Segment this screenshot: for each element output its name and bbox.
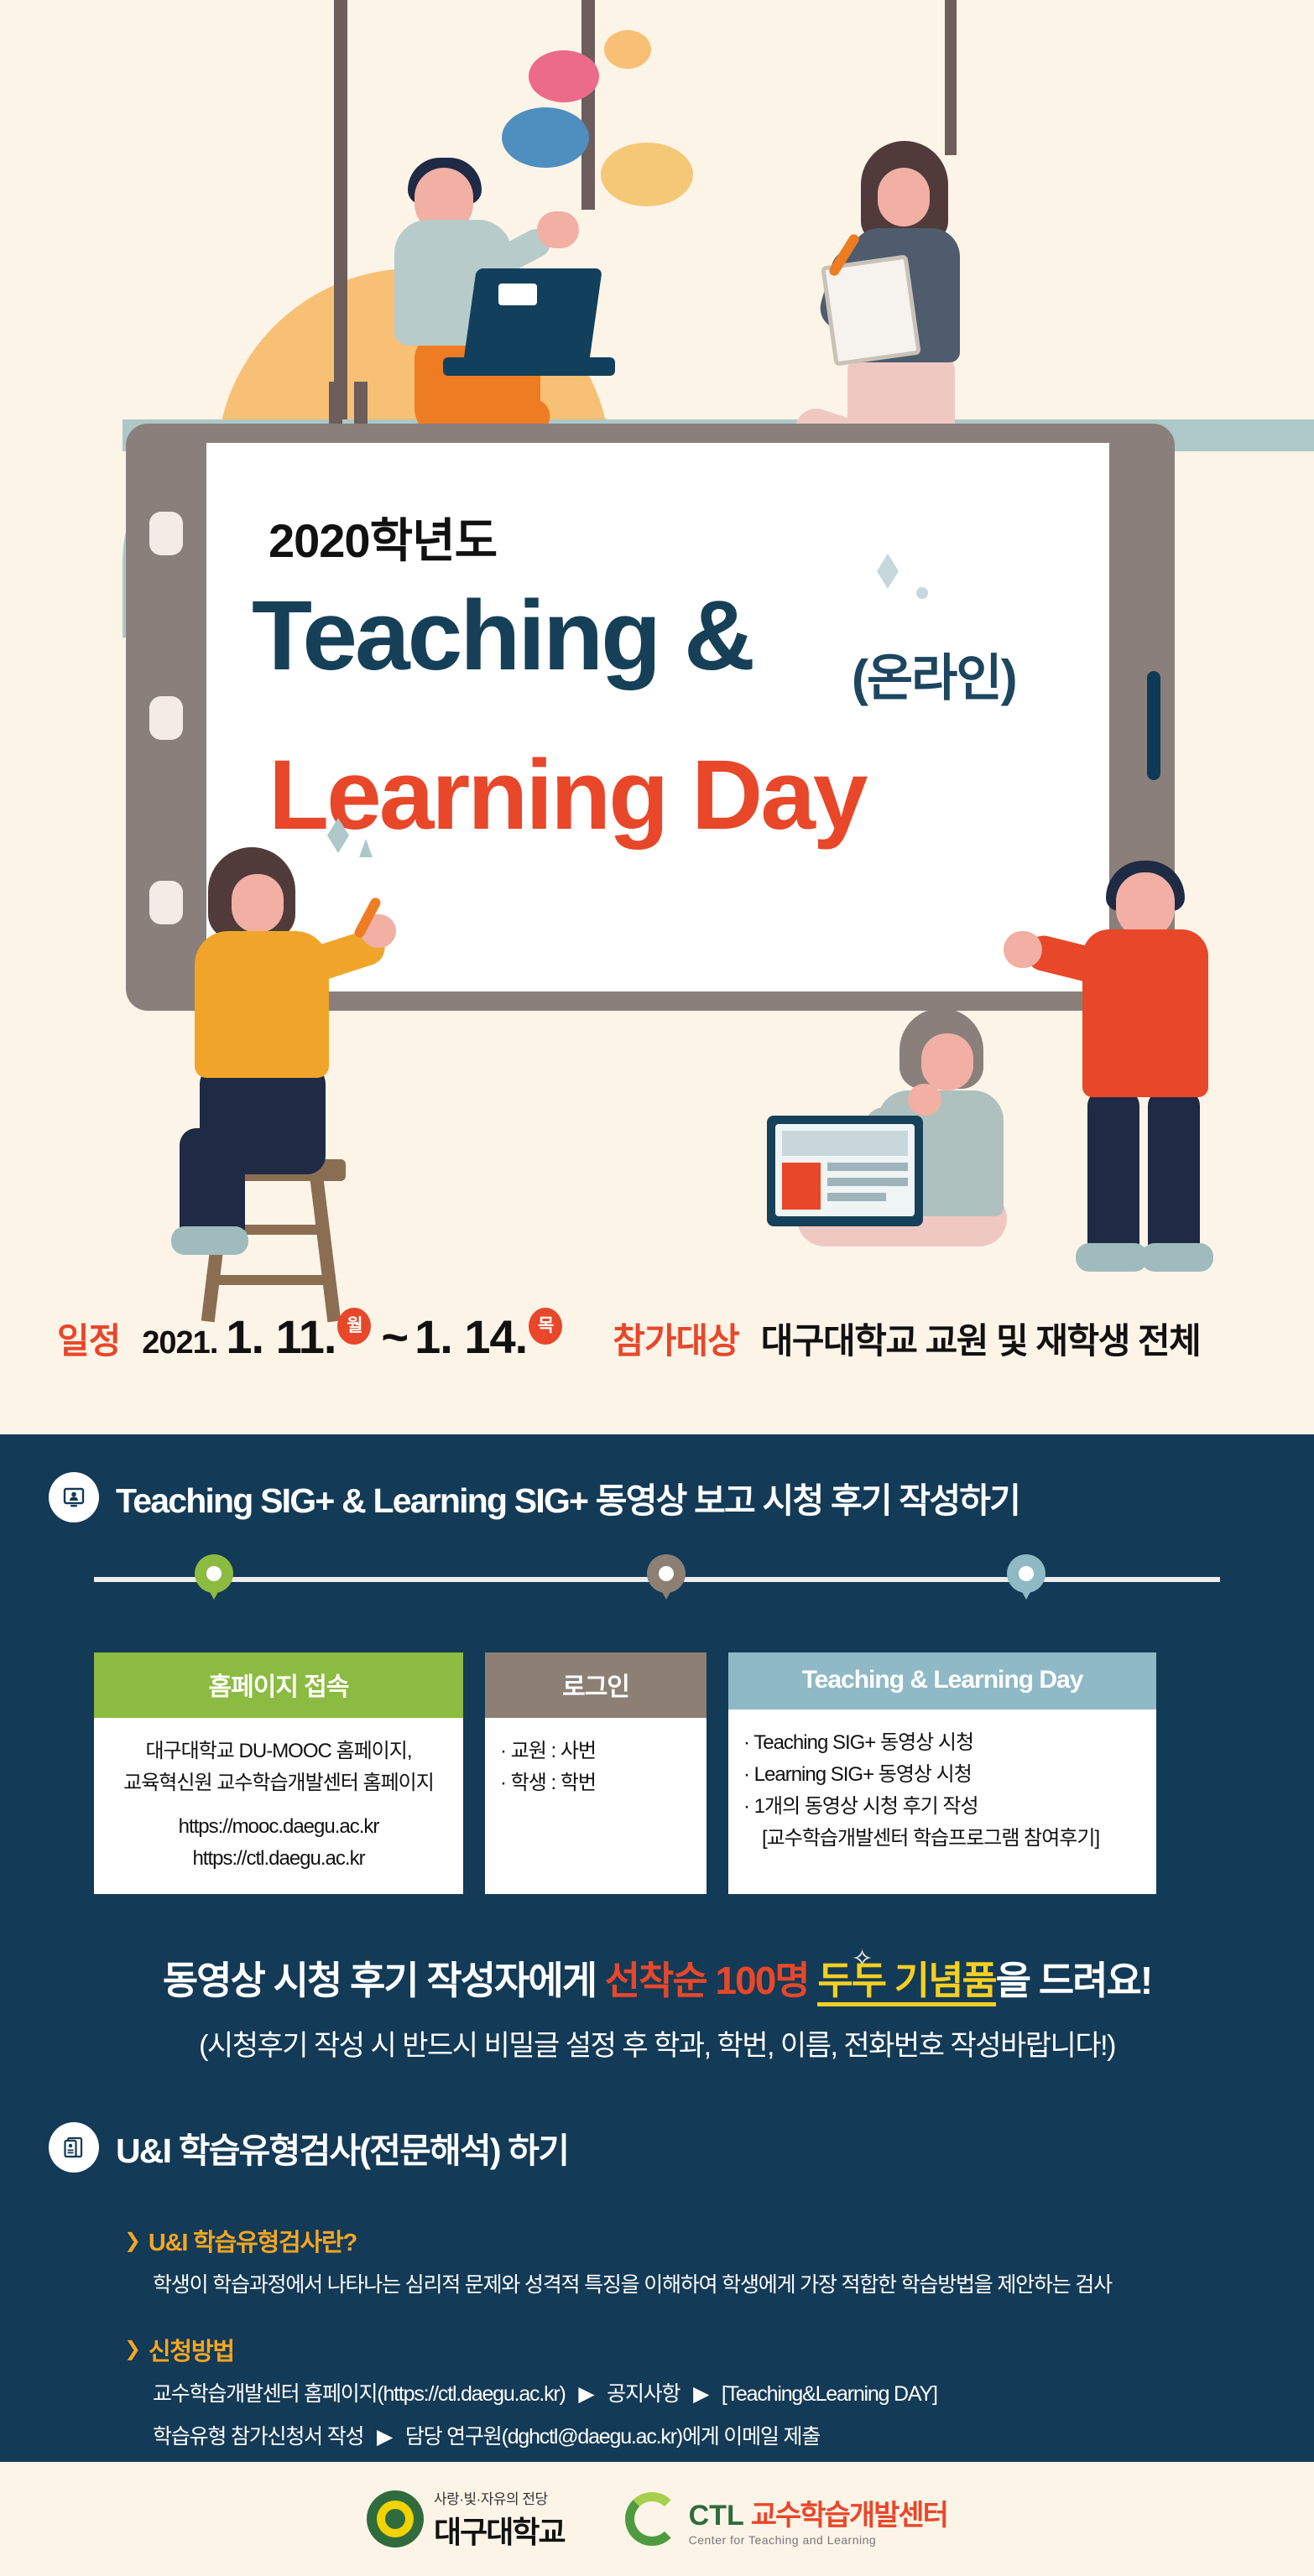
figure-viewer-person-face (921, 1033, 973, 1090)
tablet-content-bar-4 (827, 1193, 886, 1201)
chevron-right-icon-1: ❯ (124, 2229, 140, 2253)
laptop-icon (463, 268, 602, 362)
tablet-content-bar-1 (782, 1131, 908, 1156)
step-card-homepage: 홈페이지 접속 대구대학교 DU-MOOC 홈페이지, 교육혁신원 교수학습개발… (94, 1652, 463, 1894)
poster-root: 2020학년도 Teaching & (온라인) Learning Day (0, 0, 1314, 2576)
section2-title: U&I 학습유형검사(전문해석) 하기 (116, 2122, 568, 2173)
step-card-tlday-header: Teaching & Learning Day (728, 1652, 1156, 1710)
figure-writer-person-face (232, 874, 284, 933)
ctl-english-name: Center for Teaching and Learning (689, 2533, 947, 2547)
figure-writer-person-shoe (171, 1226, 248, 1255)
howto-step-1[interactable]: 교수학습개발센터 홈페이지(https://ctl.daegu.ac.kr) (153, 2382, 566, 2406)
schedule-tilde: ~ (381, 1309, 408, 1364)
speech-bubble-yellow (601, 143, 693, 206)
step-card-homepage-header: 홈페이지 접속 (94, 1652, 463, 1718)
uni-block-what-heading: ❯ U&I 학습유형검사란? (124, 2223, 1282, 2258)
uni-block-howto-heading: ❯ 신청방법 (124, 2332, 1282, 2367)
footer-logos: 사랑·빛·자유의 전당 대구대학교 CTL 교수학습개발센터 Center fo… (0, 2462, 1314, 2576)
howto-step-5[interactable]: 담당 연구원(dghctl@daegu.ac.kr)에게 이메일 제출 (405, 2425, 820, 2449)
audience-label: 참가대상 (613, 1313, 739, 1364)
step-card-homepage-body: 대구대학교 DU-MOOC 홈페이지, 교육혁신원 교수학습개발센터 홈페이지 … (94, 1718, 463, 1894)
schedule-start-day-badge: 월 (337, 1308, 371, 1345)
figure-standing-person-leg (1087, 1090, 1139, 1258)
device-button-1 (149, 512, 183, 555)
section2-header: U&I 학습유형검사(전문해석) 하기 (0, 2122, 568, 2173)
figure-viewer-person-hand (908, 1084, 941, 1116)
homepage-line-2: 교육혁신원 교수학습개발센터 홈페이지 (109, 1768, 448, 1798)
howto-step-3: [Teaching&Learning DAY] (722, 2382, 937, 2406)
figure-standing-person-leg2 (1148, 1090, 1200, 1258)
device-side-button (1147, 671, 1160, 780)
speech-bubble-amber (604, 30, 651, 69)
figure-standing-person-shoe1 (1076, 1243, 1148, 1272)
section1-header: Teaching SIG+ & Learning SIG+ 동영상 보고 시청 … (0, 1472, 1019, 1522)
schedule-start-date: 1. 11. (226, 1309, 336, 1364)
document-card-icon (49, 2122, 99, 2173)
step-card-tlday: Teaching & Learning Day · Teaching SIG+ … (728, 1652, 1156, 1894)
homepage-link-1[interactable]: https://mooc.daegu.ac.kr (109, 1812, 448, 1842)
hanging-strap-2 (581, 0, 595, 210)
university-tagline: 사랑·빛·자유의 전당 (434, 2491, 548, 2507)
academic-year-label: 2020학년도 (269, 503, 497, 571)
device-button-3 (149, 881, 183, 924)
laptop-base (443, 357, 615, 376)
arrow-icon-3: ▶ (377, 2422, 392, 2454)
step-card-login-header: 로그인 (485, 1652, 707, 1718)
arrow-icon-1: ▶ (578, 2379, 593, 2411)
tablet-content-bar-3 (827, 1178, 908, 1186)
university-logo-text: 사랑·빛·자유의 전당 대구대학교 (434, 2487, 565, 2552)
tablet-content-block (782, 1163, 821, 1210)
tlday-line-2: · Learning SIG+ 동영상 시청 (743, 1760, 1141, 1790)
howto-step-4: 학습유형 참가신청서 작성 (153, 2425, 363, 2449)
login-line-2: · 학생 : 학번 (500, 1768, 691, 1798)
timeline-pin-3 (1007, 1554, 1045, 1606)
figure-laptop-person-hand (537, 211, 579, 248)
prize-highlight-yellow: 두두 기념품 (817, 1959, 995, 2006)
poster-title-line2: Learning Day (269, 738, 866, 852)
section1-title: Teaching SIG+ & Learning SIG+ 동영상 보고 시청 … (116, 1472, 1019, 1522)
schedule-value: 2021. 1. 11. 월 ~ 1. 14. 목 (142, 1309, 566, 1366)
step-card-login-body: · 교원 : 사번 · 학생 : 학번 (485, 1718, 707, 1819)
uni-what-label: U&I 학습유형검사란? (149, 2223, 357, 2258)
hanging-strap-3 (945, 0, 957, 155)
hero-illustration-section: 2020학년도 Teaching & (온라인) Learning Day (0, 0, 1314, 1455)
schedule-year: 2021. (142, 1325, 217, 1361)
audience-value: 대구대학교 교원 및 재학생 전체 (761, 1313, 1201, 1364)
steps-card-group: 홈페이지 접속 대구대학교 DU-MOOC 홈페이지, 교육혁신원 교수학습개발… (94, 1652, 1156, 1894)
tlday-line-sub: [교수학습개발센터 학습프로그램 참여후기] (743, 1824, 1141, 1854)
uni-howto-line-2: 학습유형 참가신청서 작성 ▶ 담당 연구원(dghctl@daegu.ac.k… (124, 2422, 1282, 2454)
ctl-logo-text: CTL 교수학습개발센터 Center for Teaching and Lea… (689, 2492, 947, 2547)
daegu-university-logo: 사랑·빛·자유의 전당 대구대학교 (367, 2487, 565, 2552)
poster-title-line1: Teaching & (252, 579, 753, 693)
uni-howto-label: 신청방법 (149, 2332, 234, 2367)
device-button-2 (149, 696, 183, 740)
uni-block-what: ❯ U&I 학습유형검사란? 학생이 학습과정에서 나타나는 심리적 문제와 성… (124, 2223, 1282, 2302)
homepage-link-2[interactable]: https://ctl.daegu.ac.kr (109, 1844, 448, 1874)
uni-howto-line-1: 교수학습개발센터 홈페이지(https://ctl.daegu.ac.kr) ▶… (124, 2379, 1282, 2411)
prize-highlight-orange: 선착순 100명 (605, 1959, 809, 2002)
step-card-tlday-body: · Teaching SIG+ 동영상 시청 · Learning SIG+ 동… (728, 1710, 1156, 1874)
schedule-label: 일정 (57, 1313, 120, 1364)
figure-standing-person-shoe2 (1141, 1243, 1213, 1272)
ctl-circle-icon (625, 2492, 679, 2546)
speech-bubble-pink (529, 50, 599, 102)
tlday-line-1: · Teaching SIG+ 동영상 시청 (743, 1728, 1141, 1758)
prize-text-a: 동영상 시청 후기 작성자에게 (163, 1959, 605, 2002)
chevron-right-icon-2: ❯ (124, 2337, 140, 2361)
uni-block-howto: ❯ 신청방법 교수학습개발센터 홈페이지(https://ctl.daegu.a… (124, 2332, 1282, 2454)
timeline-pin-2 (647, 1554, 686, 1606)
uni-what-text: 학생이 학습과정에서 나타나는 심리적 문제와 성격적 특징을 이해하여 학생에… (124, 2270, 1282, 2302)
laptop-screen-highlight (498, 284, 537, 305)
figure-clipboard-person-face (878, 168, 930, 226)
homepage-line-1: 대구대학교 DU-MOOC 홈페이지, (109, 1736, 448, 1767)
figure-standing-person-head (1116, 872, 1175, 938)
prize-line-1: 동영상 시청 후기 작성자에게 선착순 100명 두두 기념품을 드려요! (0, 1950, 1314, 2006)
step-card-login: 로그인 · 교원 : 사번 · 학생 : 학번 (485, 1652, 707, 1894)
arrow-icon-2: ▶ (693, 2379, 708, 2411)
university-name: 대구대학교 (434, 2515, 565, 2549)
figure-standing-person-hand (1004, 931, 1042, 968)
schedule-audience-bar: 일정 2021. 1. 11. 월 ~ 1. 14. 목 참가대상 대구대학교 … (0, 1283, 1314, 1392)
ctl-logo: CTL 교수학습개발센터 Center for Teaching and Lea… (625, 2492, 947, 2547)
login-line-1: · 교원 : 사번 (500, 1736, 691, 1767)
speech-bubble-blue (502, 107, 589, 168)
prize-line-2: (시청후기 작성 시 반드시 비밀글 설정 후 학과, 학번, 이름, 전화번호… (0, 2022, 1314, 2063)
schedule-end-date: 1. 14. (415, 1309, 527, 1364)
monitor-person-icon (49, 1472, 99, 1522)
hanging-strap (334, 0, 347, 419)
prize-text-b: 을 드려요! (996, 1959, 1151, 2002)
tablet-content-bar-2 (827, 1163, 908, 1171)
university-seal-icon (367, 2490, 424, 2547)
poster-title-online-tag: (온라인) (852, 637, 1016, 710)
timeline-pin-1 (195, 1554, 233, 1606)
schedule-end-day-badge: 목 (529, 1308, 562, 1345)
prize-announcement: 동영상 시청 후기 작성자에게 선착순 100명 두두 기념품을 드려요! (시… (0, 1950, 1314, 2063)
tlday-line-3: · 1개의 동영상 시청 후기 작성 (743, 1792, 1141, 1822)
ctl-korean-name: 교수학습개발센터 (751, 2492, 947, 2533)
uni-test-details: ❯ U&I 학습유형검사란? 학생이 학습과정에서 나타나는 심리적 문제와 성… (124, 2223, 1282, 2454)
ctl-abbreviation: CTL (689, 2500, 744, 2532)
sparkle-icon-4 (916, 587, 928, 599)
howto-step-2: 공지사항 (607, 2382, 680, 2406)
